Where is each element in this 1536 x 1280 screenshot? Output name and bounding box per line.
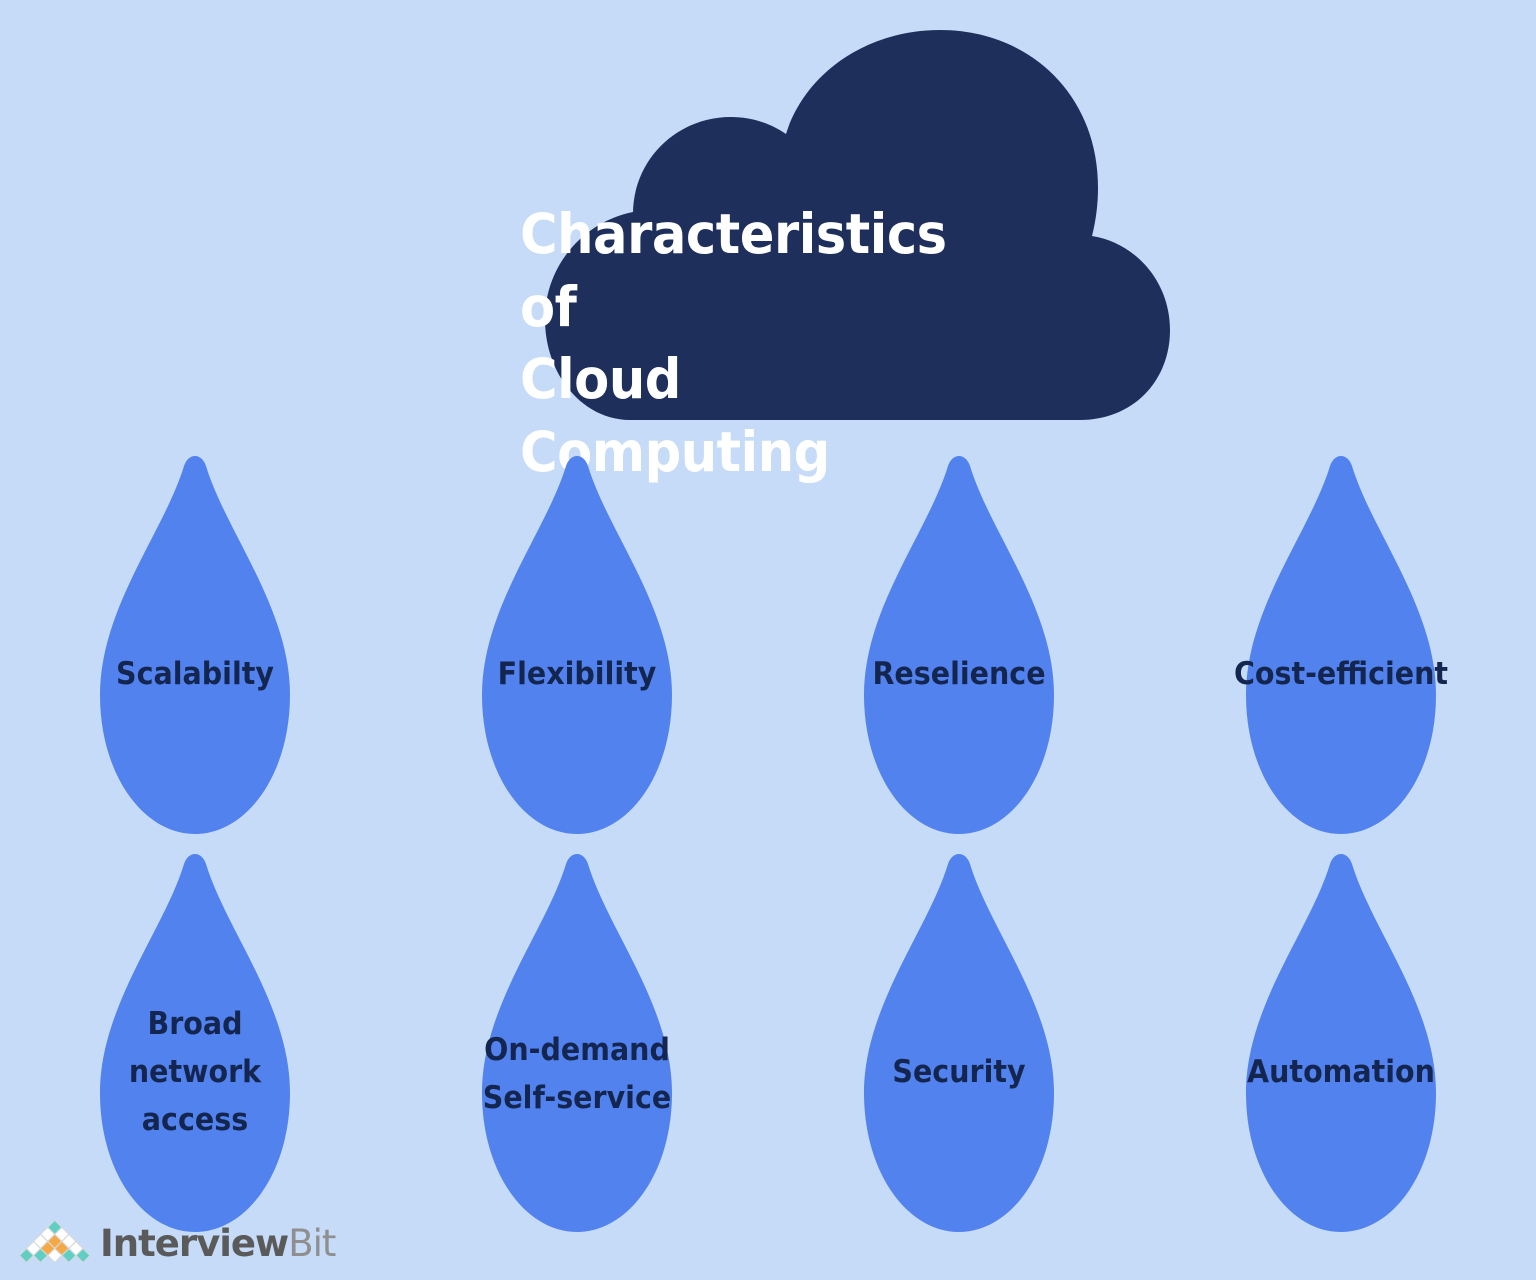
characteristic-label: Cost-efficient xyxy=(1208,650,1475,698)
characteristic-label: Reselience xyxy=(826,650,1093,698)
page-title: Characteristics of Cloud Computing xyxy=(520,198,1004,488)
interviewbit-wordmark: InterviewBit xyxy=(100,1225,335,1262)
water-drop-icon xyxy=(814,450,1104,840)
water-drop-icon xyxy=(1196,450,1486,840)
water-drop-icon xyxy=(814,848,1104,1238)
characteristic-droplet-broad-network-access[interactable]: Broad network access xyxy=(50,848,340,1238)
characteristic-label: Flexibility xyxy=(444,650,711,698)
interviewbit-logo[interactable]: InterviewBit xyxy=(18,1214,335,1272)
characteristic-label: Automation xyxy=(1208,1048,1475,1096)
cloud-header: Characteristics of Cloud Computing xyxy=(380,30,1170,420)
water-drop-icon xyxy=(1196,848,1486,1238)
characteristic-droplet-automation[interactable]: Automation xyxy=(1196,848,1486,1238)
characteristic-label: Security xyxy=(826,1048,1093,1096)
characteristic-droplet-on-demand-self-service[interactable]: On-demand Self-service xyxy=(432,848,722,1238)
infographic-canvas: Characteristics of Cloud Computing Scala… xyxy=(0,0,1536,1280)
characteristics-row-1: Scalabilty Flexibility Reselience Cost-e… xyxy=(0,450,1536,845)
logo-word-interview: Interview xyxy=(100,1222,288,1265)
water-drop-icon xyxy=(50,450,340,840)
characteristic-droplet-security[interactable]: Security xyxy=(814,848,1104,1238)
characteristic-droplet-flexibility[interactable]: Flexibility xyxy=(432,450,722,840)
characteristics-row-2: Broad network access On-demand Self-serv… xyxy=(0,848,1536,1243)
characteristic-label: Broad network access xyxy=(62,1000,329,1144)
characteristic-droplet-scalability[interactable]: Scalabilty xyxy=(50,450,340,840)
characteristics-grid: Scalabilty Flexibility Reselience Cost-e… xyxy=(0,450,1536,1240)
characteristic-label: On-demand Self-service xyxy=(444,1026,711,1122)
interviewbit-diamond-pyramid-icon xyxy=(18,1220,90,1266)
characteristic-droplet-cost-efficient[interactable]: Cost-efficient xyxy=(1196,450,1486,840)
characteristic-label: Scalabilty xyxy=(62,650,329,698)
water-drop-icon xyxy=(432,450,722,840)
characteristic-droplet-resilience[interactable]: Reselience xyxy=(814,450,1104,840)
logo-word-bit: Bit xyxy=(288,1222,335,1265)
